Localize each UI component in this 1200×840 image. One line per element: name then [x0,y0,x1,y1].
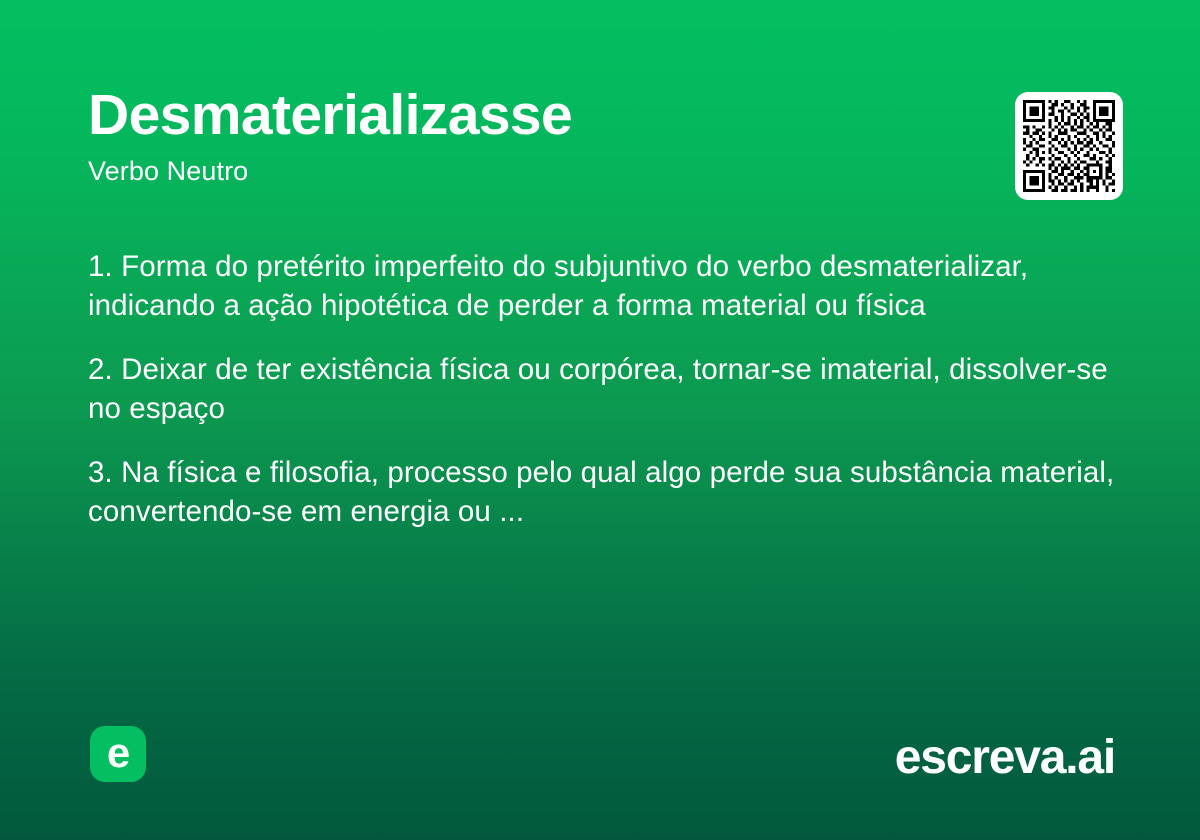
qr-code-icon [1023,100,1115,192]
definitions-list: 1. Forma do pretérito imperfeito do subj… [88,248,1128,531]
brand-logo-letter: e [107,732,129,774]
word-class-label: Verbo Neutro [88,155,968,187]
card-header: Desmaterializasse Verbo Neutro [88,84,968,187]
definition-card: Desmaterializasse Verbo Neutro [0,0,1200,840]
page-title: Desmaterializasse [88,84,968,146]
brand-logo-badge: e [90,726,146,782]
qr-code[interactable] [1015,92,1123,200]
definition-item: 2. Deixar de ter existência física ou co… [88,351,1128,428]
brand-wordmark: escreva.ai [895,732,1115,784]
definition-item: 1. Forma do pretérito imperfeito do subj… [88,248,1128,325]
definition-item: 3. Na física e filosofia, processo pelo … [88,454,1128,531]
card-footer: e escreva.ai [0,680,1200,840]
